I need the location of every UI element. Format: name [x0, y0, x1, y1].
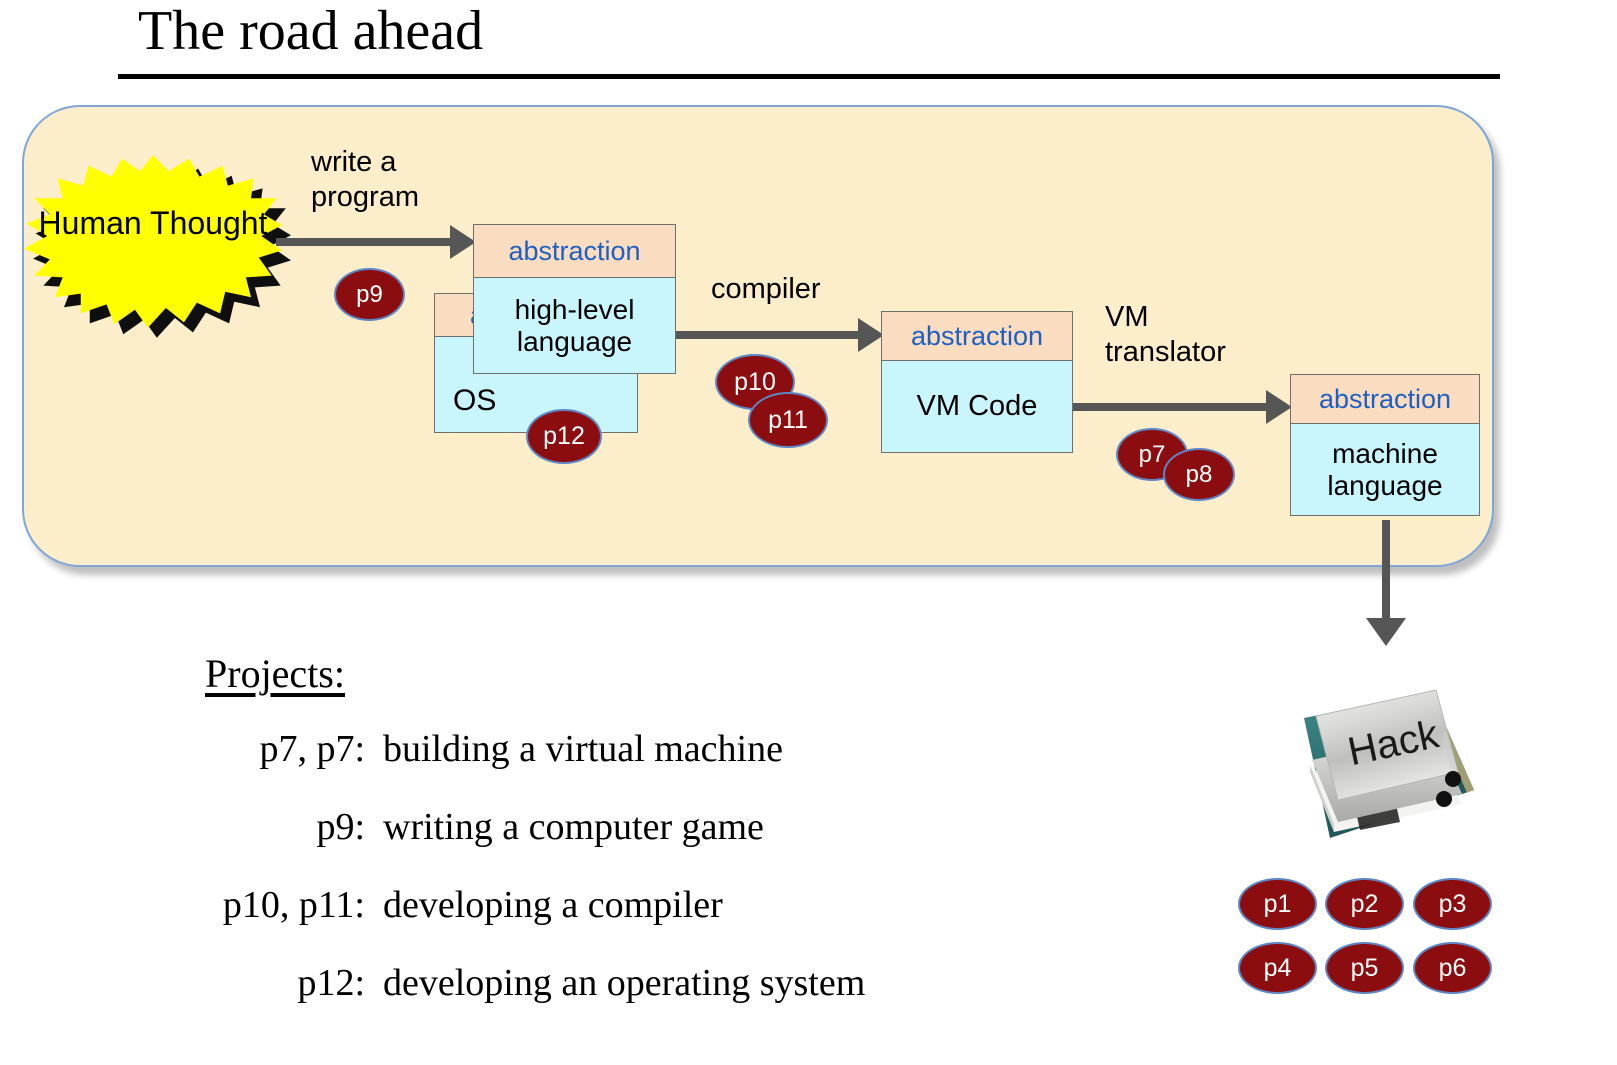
project-badge-p2[interactable]: p2: [1325, 878, 1404, 930]
arrow-write-a-program: [276, 225, 476, 259]
human-thought-starburst: Human Thought: [24, 155, 282, 335]
abstraction-header: abstraction: [473, 224, 676, 278]
arrow-shaft: [1382, 520, 1390, 620]
project-badge-p4[interactable]: p4: [1238, 942, 1317, 994]
projects-list: p7, p7: building a virtual machine p9: w…: [150, 727, 940, 1039]
cpu-dot-upper: [1445, 771, 1461, 787]
project-description: writing a computer game: [383, 805, 764, 849]
abstraction-box-high-level-language: abstraction high-level language: [473, 224, 676, 374]
abstraction-header: abstraction: [1290, 374, 1480, 424]
cpu-dot-lower: [1436, 791, 1452, 807]
arrow-compiler: [673, 318, 884, 352]
list-item: p12: developing an operating system: [150, 961, 940, 1005]
abstraction-box-vm-code: abstraction VM Code: [881, 311, 1073, 453]
abstraction-body-high-level-language: high-level language: [473, 278, 676, 374]
project-badge-p9[interactable]: p9: [334, 268, 405, 321]
arrow-shaft: [1070, 403, 1268, 411]
page-title: The road ahead: [138, 2, 483, 61]
project-badge-p8[interactable]: p8: [1163, 448, 1235, 501]
abstraction-body-vm-code: VM Code: [881, 361, 1073, 453]
project-badge-p3[interactable]: p3: [1413, 878, 1492, 930]
project-badge-p11[interactable]: p11: [748, 392, 828, 448]
arrow-shaft: [276, 238, 452, 246]
abstraction-body-machine-language: machine language: [1290, 424, 1480, 516]
project-description: developing a compiler: [383, 883, 723, 927]
abstraction-box-machine-language: abstraction machine language: [1290, 374, 1480, 516]
starburst-shape: [24, 155, 282, 335]
arrow-head-icon: [1266, 390, 1292, 424]
project-description: building a virtual machine: [383, 727, 783, 771]
project-badge-p12[interactable]: p12: [526, 409, 602, 464]
project-description: developing an operating system: [383, 961, 865, 1005]
label-compiler: compiler: [711, 272, 821, 307]
project-badge-p6[interactable]: p6: [1413, 942, 1492, 994]
project-badge-p1[interactable]: p1: [1238, 878, 1317, 930]
arrow-machine-language-to-cpu: [1366, 520, 1406, 646]
project-key: p7, p7:: [150, 727, 383, 771]
arrow-head-icon: [1366, 618, 1406, 646]
list-item: p7, p7: building a virtual machine: [150, 727, 940, 771]
label-write-a-program: write a program: [311, 145, 419, 216]
list-item: p9: writing a computer game: [150, 805, 940, 849]
projects-heading: Projects:: [205, 650, 345, 697]
arrow-vm-translator: [1070, 390, 1292, 424]
arrow-shaft: [673, 331, 860, 339]
abstraction-header: abstraction: [881, 311, 1073, 361]
title-divider: [118, 74, 1500, 79]
project-badge-p5[interactable]: p5: [1325, 942, 1404, 994]
human-thought-label: Human Thought: [24, 205, 282, 243]
label-vm-translator: VM translator: [1105, 300, 1226, 371]
hack-cpu-chip-image: Hack: [1248, 672, 1480, 858]
list-item: p10, p11: developing a compiler: [150, 883, 940, 927]
project-key: p9:: [150, 805, 383, 849]
project-key: p12:: [150, 961, 383, 1005]
project-key: p10, p11:: [150, 883, 383, 927]
